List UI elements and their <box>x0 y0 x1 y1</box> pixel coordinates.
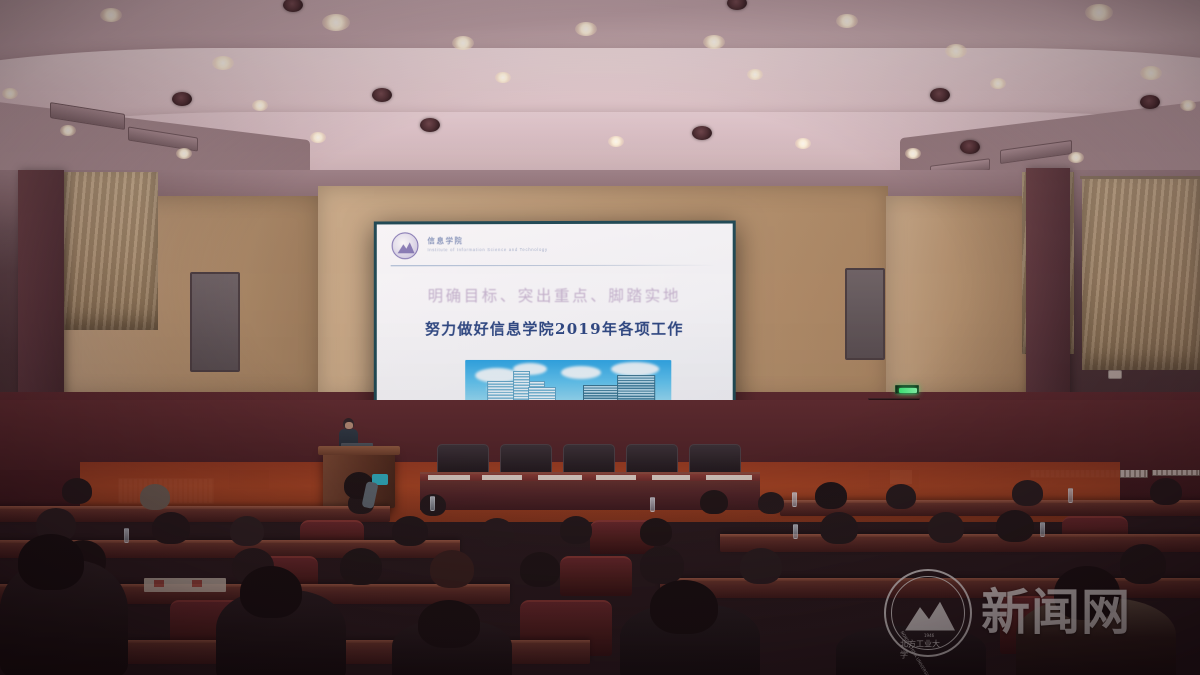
ceiling-spotlight <box>283 0 303 12</box>
audience-head <box>430 550 474 588</box>
audience-head <box>1150 478 1182 505</box>
university-emblem-icon <box>392 232 419 259</box>
audience-head <box>650 580 718 634</box>
head-table-chair <box>689 444 741 474</box>
ceiling-spotlight <box>172 92 192 106</box>
audience-head <box>1012 480 1043 506</box>
audience-head <box>418 600 480 648</box>
downlight <box>575 22 597 36</box>
downlight <box>1068 152 1084 163</box>
name-card <box>596 475 636 480</box>
presenter-face <box>345 422 353 429</box>
slide-org-name-cn: 信息学院 <box>427 235 463 246</box>
downlight <box>990 78 1006 89</box>
audience-head <box>996 510 1034 542</box>
handout-paper <box>144 578 226 592</box>
audience-head <box>392 516 428 546</box>
downlight <box>747 69 763 80</box>
ceiling-spotlight <box>372 88 392 102</box>
downlight <box>212 56 234 70</box>
ceiling-spotlight <box>727 0 747 10</box>
name-card <box>482 475 522 480</box>
downlight <box>703 35 725 49</box>
audience-head <box>1054 566 1120 620</box>
slide-header-rule <box>391 265 719 267</box>
audience-head <box>820 512 858 544</box>
water-bottle <box>793 524 798 539</box>
slide-title-line-2: 努力做好信息学院2019年各项工作 <box>377 318 733 339</box>
downlight <box>795 138 811 149</box>
audience-head <box>640 518 672 546</box>
curtain-right-outer <box>1082 178 1200 370</box>
exit-sign-glow <box>899 388 917 393</box>
name-card <box>428 475 470 480</box>
audience-shoulders <box>836 626 986 675</box>
ceiling-spotlight <box>692 126 712 140</box>
downlight <box>836 14 858 28</box>
downlight <box>452 36 474 50</box>
ceiling-spotlight <box>1140 95 1160 109</box>
wall-panel-right-upper <box>886 196 1036 396</box>
downlight <box>60 125 76 136</box>
slide-title-line-1: 明确目标、突出重点、脚踏实地 <box>377 284 733 306</box>
podium-top <box>318 446 400 455</box>
head-table-chair <box>500 444 552 474</box>
audience-head <box>62 478 92 504</box>
downlight <box>608 136 624 147</box>
water-bottle <box>1040 522 1045 537</box>
audience-head <box>640 546 684 584</box>
downlight <box>945 44 967 58</box>
wall-speaker-panel-right <box>845 268 885 360</box>
audience-head <box>758 492 784 514</box>
downlight <box>100 8 122 22</box>
audience-head <box>1120 544 1166 584</box>
name-card <box>706 475 752 480</box>
water-bottle <box>1068 488 1073 503</box>
wall-speaker-panel-left <box>190 272 240 372</box>
audience-head <box>886 484 916 509</box>
head-table-chair <box>626 444 678 474</box>
downlight <box>1140 66 1162 80</box>
audience-head <box>18 534 84 590</box>
ceiling-spotlight <box>930 88 950 102</box>
desk-edge <box>660 578 1200 581</box>
audience-head <box>560 516 592 544</box>
audience-head <box>740 548 782 584</box>
downlight <box>1180 100 1196 111</box>
auditorium-photo: 信息学院 Institute of Information Science an… <box>0 0 1200 675</box>
emblem-mountain-mark <box>398 242 415 253</box>
downlight <box>252 100 268 111</box>
audience-head <box>700 490 728 514</box>
audience-head <box>240 566 302 618</box>
emergency-exit-sign <box>895 385 919 394</box>
downlight <box>495 72 511 83</box>
audience-head <box>140 484 170 510</box>
wall-outlet-right <box>1108 370 1122 379</box>
audience-seat <box>560 556 632 596</box>
cloud <box>611 362 659 376</box>
downlight <box>905 148 921 159</box>
head-table-chair <box>563 444 615 474</box>
downlight <box>2 88 18 99</box>
audience-head <box>152 512 190 544</box>
audience-head <box>520 552 560 587</box>
curtain-left <box>60 172 158 330</box>
downlight <box>1085 4 1113 21</box>
water-bottle <box>124 528 129 543</box>
downlight <box>322 14 350 31</box>
name-card <box>538 475 582 480</box>
audience-head <box>230 516 264 546</box>
slide-org-name-en: Institute of Information Science and Tec… <box>427 247 547 252</box>
audience-head <box>480 518 514 547</box>
paper-red-mark <box>154 580 164 587</box>
ceiling-spotlight <box>960 140 980 154</box>
audience-head <box>928 512 964 543</box>
cloud <box>561 366 601 379</box>
slide-header: 信息学院 Institute of Information Science an… <box>377 224 733 267</box>
ceiling-spotlight <box>420 118 440 132</box>
audience-head <box>815 482 847 509</box>
water-bottle <box>650 497 655 512</box>
audience-head <box>340 548 382 585</box>
name-card <box>652 475 690 480</box>
head-table-chair <box>437 444 489 474</box>
water-bottle <box>792 492 797 507</box>
paper-red-mark <box>192 580 202 587</box>
curtain-rod-right <box>1080 176 1200 179</box>
downlight <box>176 148 192 159</box>
downlight <box>310 132 326 143</box>
water-bottle <box>430 496 435 511</box>
